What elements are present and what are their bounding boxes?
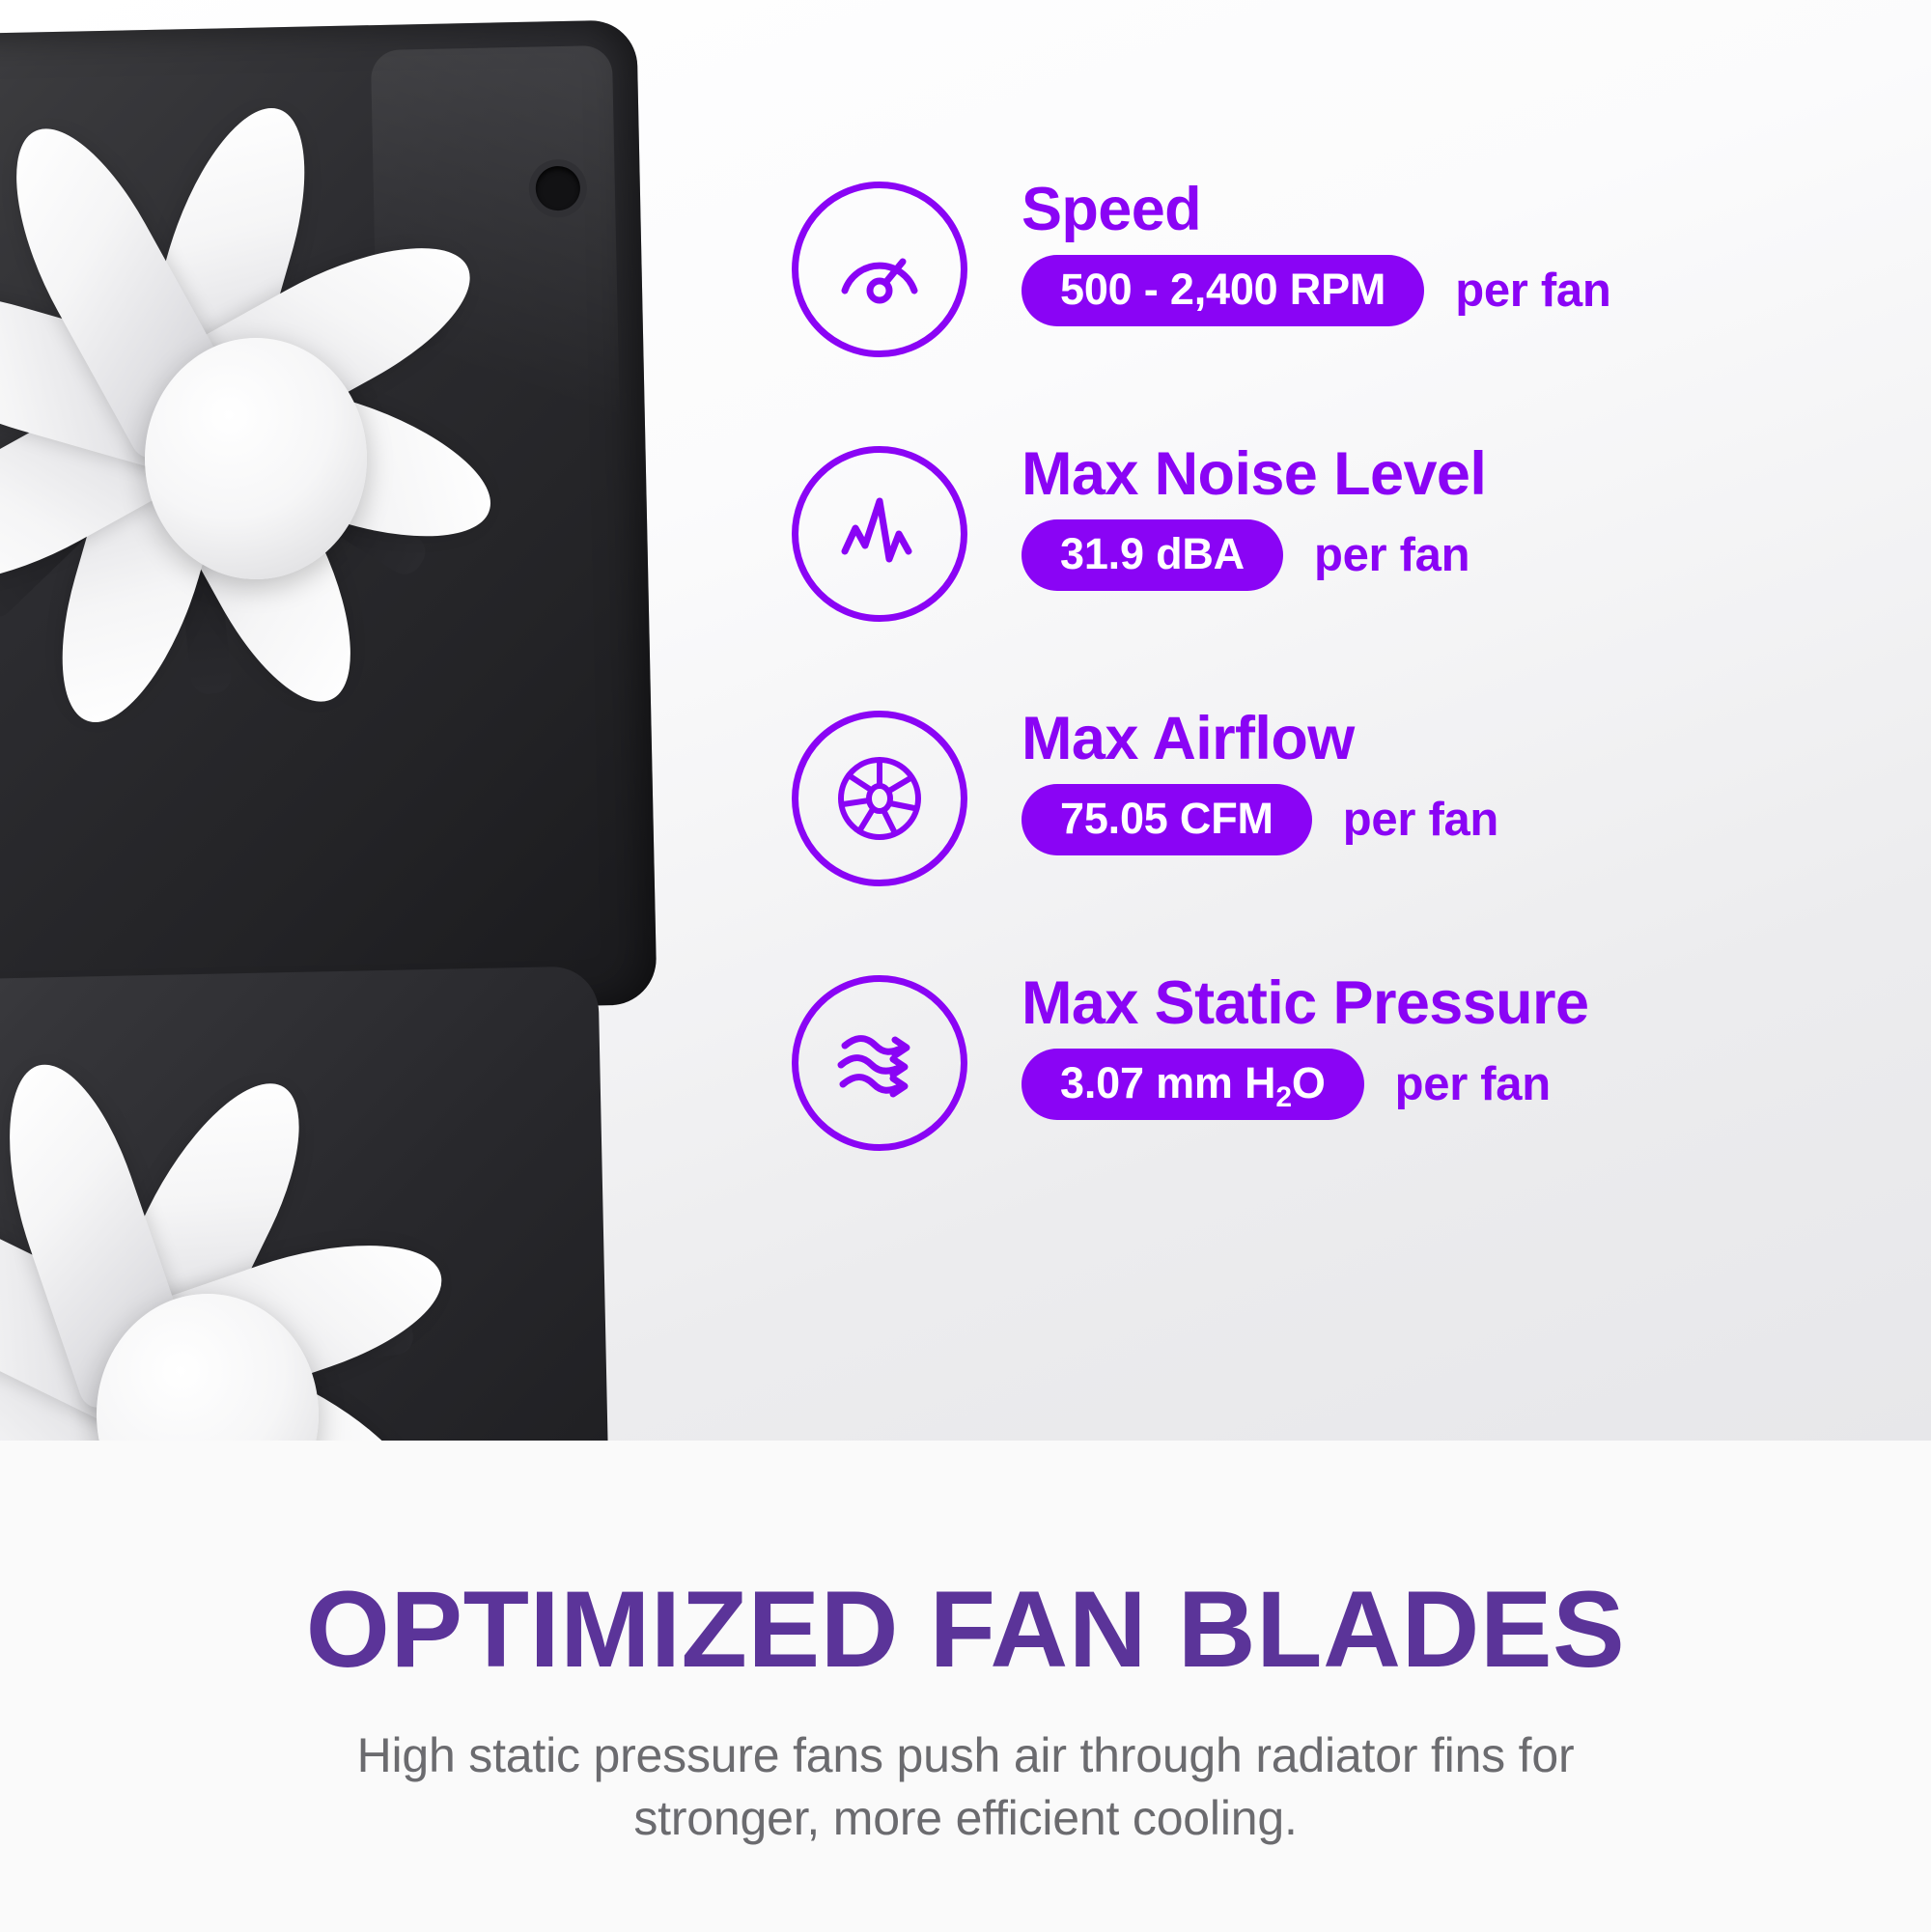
spec-value-suffix: per fan [1343,793,1498,847]
spec-value-line: 75.05 CFM per fan [1021,784,1498,855]
spec-value-badge: 75.05 CFM [1021,784,1312,855]
spec-row-airflow: Max Airflow 75.05 CFM per fan [792,701,1902,890]
spec-value-badge: 3.07 mm H2O [1021,1049,1364,1120]
spec-value-line: 500 - 2,400 RPM per fan [1021,255,1610,326]
spec-row-noise: Max Noise Level 31.9 dBA per fan [792,436,1902,626]
spec-value-line: 3.07 mm H2O per fan [1021,1049,1588,1120]
speedometer-icon [792,182,967,357]
spec-value-post: O [1292,1058,1326,1107]
top-section: Speed 500 - 2,400 RPM per fan Max Noise … [0,0,1931,1441]
spec-body: Max Airflow 75.05 CFM per fan [1021,701,1498,855]
noise-waveform-icon [792,446,967,622]
spec-body: Max Noise Level 31.9 dBA per fan [1021,436,1486,591]
fan-product-image [0,0,666,1441]
footer-body-line1: High static pressure fans push air throu… [0,1724,1931,1787]
spec-value-suffix: per fan [1314,528,1469,582]
spec-value-badge: 31.9 dBA [1021,519,1283,591]
spec-value-suffix: per fan [1455,264,1610,318]
spec-value-prefix: 3.07 mm H [1060,1058,1275,1107]
spec-title: Speed [1021,178,1610,241]
spec-row-speed: Speed 500 - 2,400 RPM per fan [792,172,1902,361]
spec-body: Speed 500 - 2,400 RPM per fan [1021,172,1610,326]
spec-title: Max Noise Level [1021,442,1486,506]
spec-value-suffix: per fan [1395,1057,1551,1111]
spec-title: Max Static Pressure [1021,971,1588,1035]
spec-value-badge: 500 - 2,400 RPM [1021,255,1424,326]
spec-body: Max Static Pressure 3.07 mm H2O per fan [1021,966,1588,1120]
infographic-canvas: Speed 500 - 2,400 RPM per fan Max Noise … [0,0,1931,1932]
spec-row-static-pressure: Max Static Pressure 3.07 mm H2O per fan [792,966,1902,1155]
footer-section: OPTIMIZED FAN BLADES High static pressur… [0,1441,1931,1932]
footer-body: High static pressure fans push air throu… [0,1724,1931,1850]
impeller-icon [792,711,967,886]
footer-headline: OPTIMIZED FAN BLADES [0,1576,1931,1684]
spec-value-line: 31.9 dBA per fan [1021,519,1486,591]
spec-list: Speed 500 - 2,400 RPM per fan Max Noise … [792,172,1902,1155]
fan-hub-upper [145,338,367,579]
spec-value-subscript: 2 [1275,1081,1292,1113]
footer-body-line2: stronger, more efficient cooling. [0,1787,1931,1850]
airflow-arrows-icon [792,975,967,1151]
spec-title: Max Airflow [1021,707,1498,770]
